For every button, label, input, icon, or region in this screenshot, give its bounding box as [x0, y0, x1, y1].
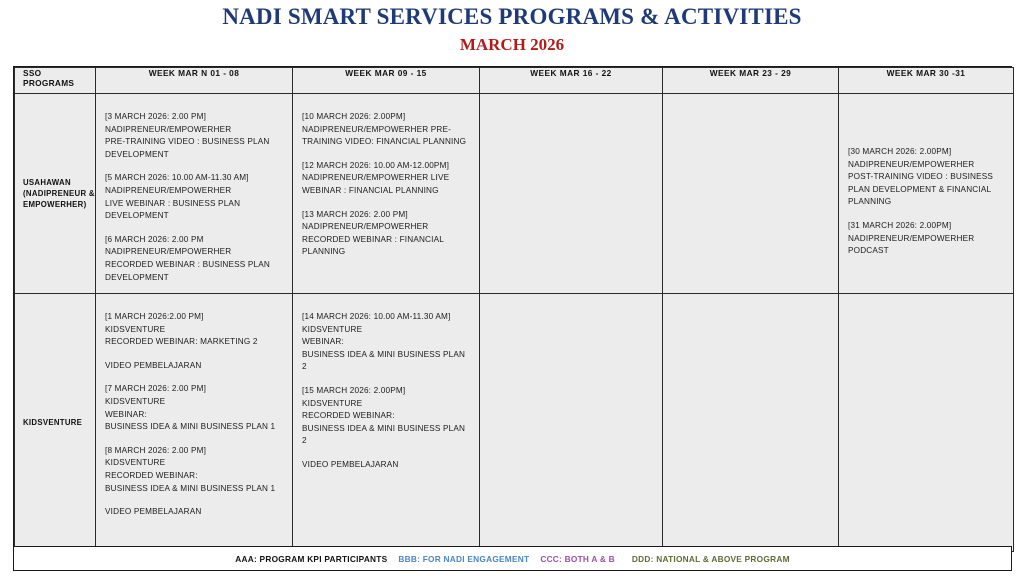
activity-block: [7 MARCH 2026: 2.00 PM] KIDSVENTURE WEBI…: [105, 383, 284, 433]
table-header: SSO PROGRAMS WEEK MAR N 01 - 08 WEEK MAR…: [15, 68, 1014, 94]
activity-block: [1 MARCH 2026:2.00 PM] KIDSVENTURE RECOR…: [105, 311, 284, 349]
cell-usahawan-week-3: [480, 94, 663, 294]
legend-bar: AAA: PROGRAM KPI PARTICIPANTS BBB: FOR N…: [13, 546, 1012, 571]
legend-item-ccc: CCC: BOTH A & B: [540, 554, 615, 564]
activity-block: [31 MARCH 2026: 2.00PM] NADIPRENEUR/EMPO…: [848, 220, 1005, 258]
schedule-table-wrapper: SSO PROGRAMS WEEK MAR N 01 - 08 WEEK MAR…: [13, 66, 1012, 553]
activity-block: [30 MARCH 2026: 2.00PM] NADIPRENEUR/EMPO…: [848, 146, 1005, 209]
legend-items: AAA: PROGRAM KPI PARTICIPANTS BBB: FOR N…: [235, 554, 789, 564]
page-title: NADI SMART SERVICES PROGRAMS & ACTIVITIE…: [0, 4, 1024, 30]
cell-usahawan-week-1: [3 MARCH 2026: 2.00 PM] NADIPRENEUR/EMPO…: [96, 94, 293, 294]
activity-block: [8 MARCH 2026: 2.00 PM] KIDSVENTURE RECO…: [105, 445, 284, 495]
column-header-week-1: WEEK MAR N 01 - 08: [96, 68, 293, 94]
activity-block: [13 MARCH 2026: 2.00 PM] NADIPRENEUR/EMP…: [302, 209, 471, 259]
activity-block: [15 MARCH 2026: 2.00PM] KIDSVENTURE RECO…: [302, 385, 471, 448]
table-row-kidsventure: KIDSVENTURE [1 MARCH 2026:2.00 PM] KIDSV…: [15, 294, 1014, 552]
row-label-kidsventure: KIDSVENTURE: [15, 294, 96, 552]
legend-item-ddd: DDD: NATIONAL & ABOVE PROGRAM: [632, 554, 790, 564]
activity-block: [3 MARCH 2026: 2.00 PM] NADIPRENEUR/EMPO…: [105, 111, 284, 161]
activity-block: [14 MARCH 2026: 10.00 AM-11.30 AM] KIDSV…: [302, 311, 471, 374]
cell-usahawan-week-2: [10 MARCH 2026: 2.00PM] NADIPRENEUR/EMPO…: [293, 94, 480, 294]
cell-kidsventure-week-1: [1 MARCH 2026:2.00 PM] KIDSVENTURE RECOR…: [96, 294, 293, 552]
cell-usahawan-week-5: [30 MARCH 2026: 2.00PM] NADIPRENEUR/EMPO…: [839, 94, 1014, 294]
schedule-page: NADI SMART SERVICES PROGRAMS & ACTIVITIE…: [0, 0, 1024, 576]
title-block: NADI SMART SERVICES PROGRAMS & ACTIVITIE…: [0, 4, 1024, 56]
activity-block: [12 MARCH 2026: 10.00 AM-12.00PM] NADIPR…: [302, 160, 471, 198]
column-header-week-3: WEEK MAR 16 - 22: [480, 68, 663, 94]
cell-kidsventure-week-3: [480, 294, 663, 552]
column-header-sso-programs: SSO PROGRAMS: [15, 68, 96, 94]
table-header-row: SSO PROGRAMS WEEK MAR N 01 - 08 WEEK MAR…: [15, 68, 1014, 94]
activity-block: [6 MARCH 2026: 2.00 PM NADIPRENEUR/EMPOW…: [105, 234, 284, 284]
activity-block: VIDEO PEMBELAJARAN: [105, 506, 284, 519]
column-header-week-2: WEEK MAR 09 - 15: [293, 68, 480, 94]
row-label-usahawan: USAHAWAN (NADIPRENEUR & EMPOWERHER): [15, 94, 96, 294]
activity-block: VIDEO PEMBELAJARAN: [105, 360, 284, 373]
activity-block: VIDEO PEMBELAJARAN: [302, 459, 471, 472]
cell-usahawan-week-4: [663, 94, 839, 294]
column-header-week-4: WEEK MAR 23 - 29: [663, 68, 839, 94]
column-header-week-5: WEEK MAR 30 -31: [839, 68, 1014, 94]
legend-item-bbb: BBB: FOR NADI ENGAGEMENT: [398, 554, 529, 564]
cell-kidsventure-week-5: [839, 294, 1014, 552]
page-subtitle: MARCH 2026: [0, 34, 1024, 56]
cell-kidsventure-week-4: [663, 294, 839, 552]
legend-item-aaa: AAA: PROGRAM KPI PARTICIPANTS: [235, 554, 387, 564]
table-body: USAHAWAN (NADIPRENEUR & EMPOWERHER) [3 M…: [15, 94, 1014, 552]
table-row-usahawan: USAHAWAN (NADIPRENEUR & EMPOWERHER) [3 M…: [15, 94, 1014, 294]
activity-block: [10 MARCH 2026: 2.00PM] NADIPRENEUR/EMPO…: [302, 111, 471, 149]
activity-block: [5 MARCH 2026: 10.00 AM-11.30 AM] NADIPR…: [105, 172, 284, 222]
schedule-table: SSO PROGRAMS WEEK MAR N 01 - 08 WEEK MAR…: [14, 67, 1014, 552]
cell-kidsventure-week-2: [14 MARCH 2026: 10.00 AM-11.30 AM] KIDSV…: [293, 294, 480, 552]
